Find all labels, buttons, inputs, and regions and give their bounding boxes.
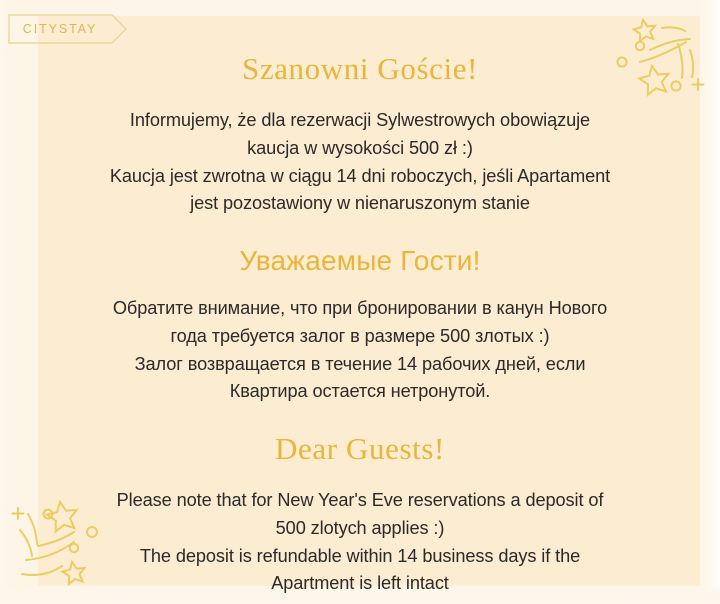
text-line: Залог возвращается в течение 14 рабочих … (56, 351, 664, 379)
heading-pl: Szanowni Goście! (56, 50, 664, 87)
section-pl: Szanowni Goście! Informujemy, że dla rez… (56, 50, 664, 218)
notice-poster: CITYSTAY (0, 0, 720, 604)
paragraph-en-2: The deposit is refundable within 14 busi… (56, 543, 664, 598)
text-line: Apartment is left intact (56, 570, 664, 598)
paragraph-pl-1: Informujemy, że dla rezerwacji Sylwestro… (56, 107, 664, 162)
paragraph-ru-2: Залог возвращается в течение 14 рабочих … (56, 351, 664, 406)
section-en: Dear Guests! Please note that for New Ye… (56, 430, 664, 598)
heading-ru: Уважаемые Гости! (56, 244, 664, 278)
text-line: года требуется залог в размере 500 злоты… (56, 323, 664, 351)
text-line: Kaucja jest zwrotna w ciągu 14 dni roboc… (56, 163, 664, 191)
text-line: kaucja w wysokości 500 zł :) (56, 135, 664, 163)
text-line: Informujemy, że dla rezerwacji Sylwestro… (56, 107, 664, 135)
section-ru: Уважаемые Гости! Обратите внимание, что … (56, 244, 664, 406)
text-line: Квартира остается нетронутой. (56, 378, 664, 406)
paragraph-pl-2: Kaucja jest zwrotna w ciągu 14 dni roboc… (56, 163, 664, 218)
paragraph-ru-1: Обратите внимание, что при бронировании … (56, 295, 664, 350)
text-line: Обратите внимание, что при бронировании … (56, 295, 664, 323)
text-line: 500 zlotych applies :) (56, 515, 664, 543)
poster-content: Szanowni Goście! Informujemy, że dla rez… (0, 0, 720, 604)
text-line: jest pozostawiony w nienaruszonym stanie (56, 190, 664, 218)
text-line: The deposit is refundable within 14 busi… (56, 543, 664, 571)
heading-en: Dear Guests! (56, 430, 664, 467)
paragraph-en-1: Please note that for New Year's Eve rese… (56, 487, 664, 542)
text-line: Please note that for New Year's Eve rese… (56, 487, 664, 515)
